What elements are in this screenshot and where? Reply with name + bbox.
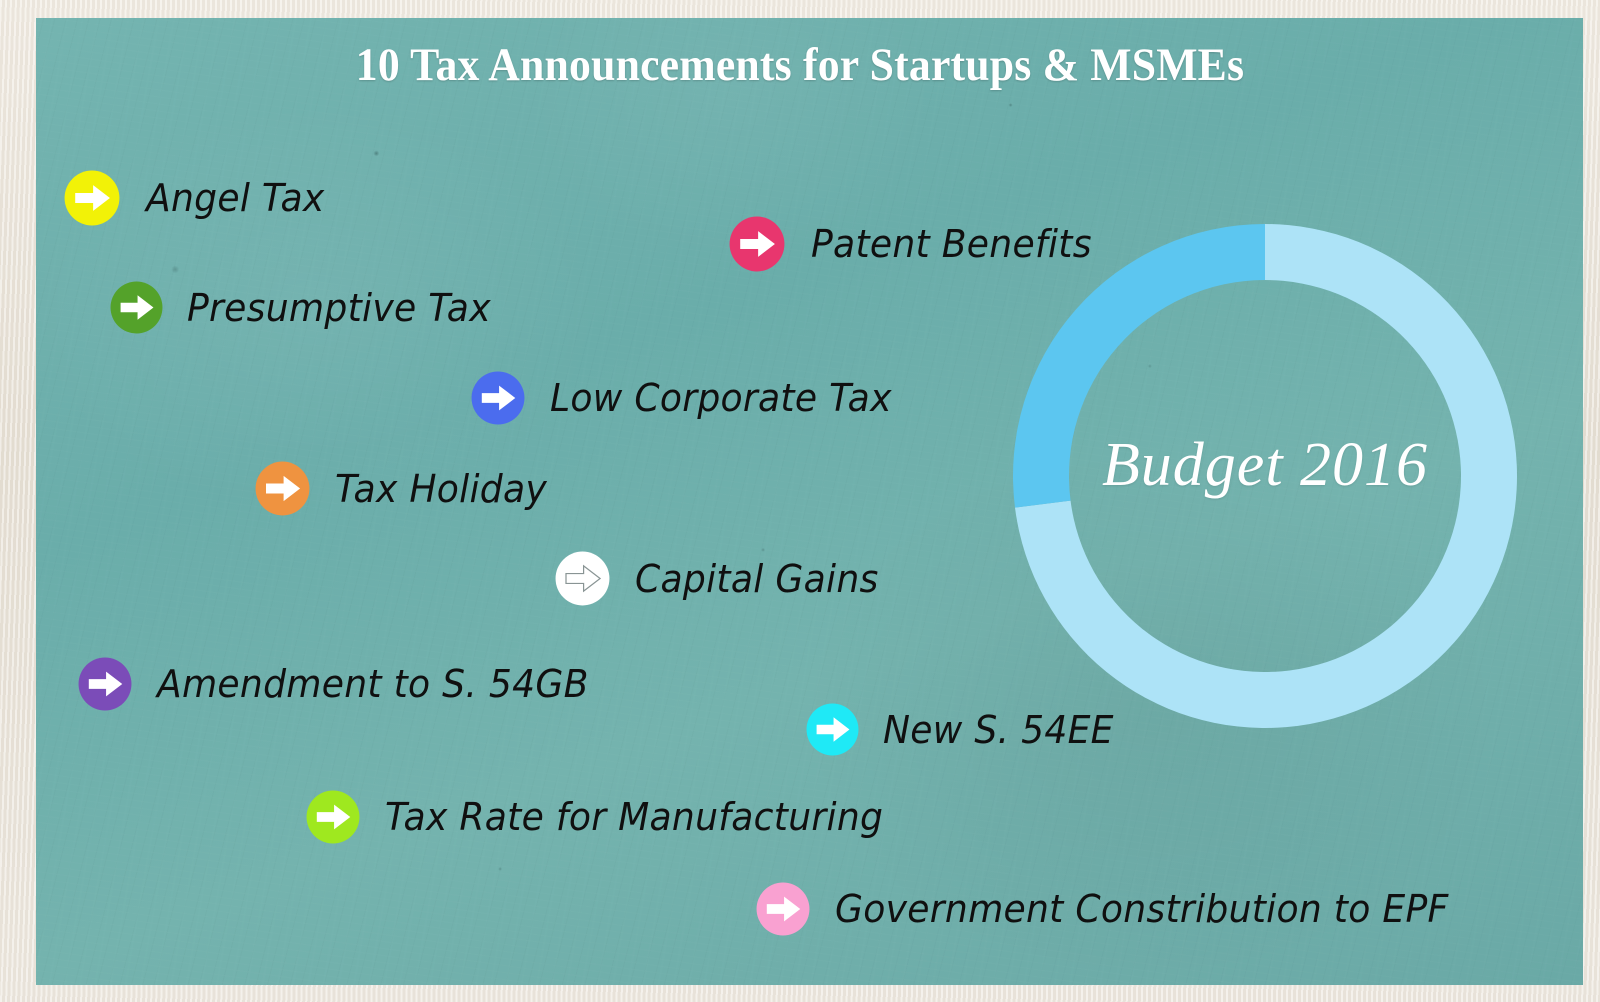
list-item-label: New S. 54EE [883, 711, 1114, 749]
list-item-label: Angel Tax [146, 179, 325, 217]
list-item-label: Tax Rate for Manufacturing [385, 798, 883, 836]
list-item[interactable]: Patent Benefits [729, 216, 1107, 272]
arrow-right-circle-icon [78, 657, 132, 711]
list-item[interactable]: Government Constribution to EPF [756, 882, 1481, 936]
arrow-right-circle-icon [306, 790, 360, 844]
infographic-canvas: 10 Tax Announcements for Startups & MSME… [0, 0, 1600, 1002]
arrow-right-circle-icon [255, 461, 310, 516]
list-item[interactable]: Tax Rate for Manufacturing [306, 790, 909, 844]
list-item[interactable]: Low Corporate Tax [471, 371, 910, 425]
arrow-right-circle-icon [471, 371, 525, 425]
list-item[interactable]: Tax Holiday [255, 461, 558, 516]
arrow-right-circle-icon [756, 882, 810, 936]
list-item-label: Low Corporate Tax [550, 379, 892, 417]
list-item[interactable]: Capital Gains [555, 551, 891, 606]
list-item-label: Presumptive Tax [187, 289, 491, 327]
list-item-label: Capital Gains [635, 560, 879, 598]
list-item-label: Amendment to S. 54GB [157, 665, 589, 703]
arrow-right-circle-icon [729, 216, 785, 272]
arrow-right-circle-icon [555, 551, 610, 606]
donut-center-label: Budget 2016 [1013, 430, 1517, 501]
page-title: 10 Tax Announcements for Startups & MSME… [56, 38, 1544, 92]
list-item[interactable]: Amendment to S. 54GB [78, 657, 611, 711]
arrow-right-circle-icon [64, 170, 120, 226]
list-item[interactable]: Angel Tax [64, 170, 334, 226]
list-item-label: Tax Holiday [335, 470, 547, 508]
list-item[interactable]: New S. 54EE [806, 703, 1126, 756]
arrow-right-circle-icon [110, 281, 163, 334]
arrow-right-circle-icon [806, 703, 859, 756]
list-item[interactable]: Presumptive Tax [110, 281, 507, 334]
list-item-label: Government Constribution to EPF [835, 890, 1449, 928]
list-item-label: Patent Benefits [811, 225, 1092, 263]
